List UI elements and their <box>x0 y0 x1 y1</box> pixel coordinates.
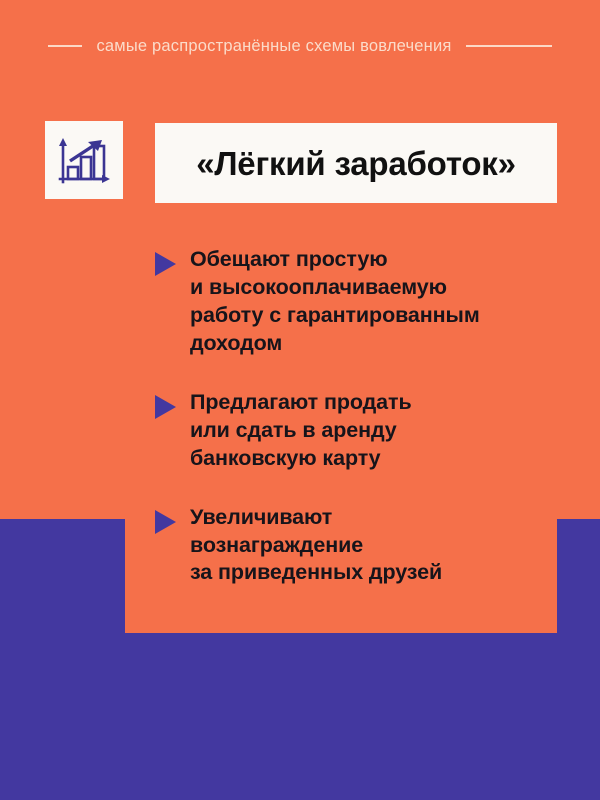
list-item: Предлагают продать или сдать в аренду ба… <box>155 389 560 473</box>
poster-canvas: самые распространённые схемы вовлечения <box>0 0 600 800</box>
triangle-bullet-icon <box>155 252 176 276</box>
header-title: самые распространённые схемы вовлечения <box>96 37 451 56</box>
triangle-bullet-icon <box>155 395 176 419</box>
list-item-label: Предлагают продать или сдать в аренду ба… <box>190 389 412 473</box>
list-item-label: Увеличивают вознаграждение за приведенны… <box>190 504 442 588</box>
bullet-list: Обещают простую и высокооплачиваемую раб… <box>155 246 560 587</box>
list-item-label: Обещают простую и высокооплачиваемую раб… <box>190 246 480 358</box>
header-rule-left-icon <box>48 45 82 47</box>
list-item: Увеличивают вознаграждение за приведенны… <box>155 504 560 588</box>
header-strip: самые распространённые схемы вовлечения <box>0 28 600 64</box>
icon-tile <box>45 121 123 199</box>
list-item: Обещают простую и высокооплачиваемую раб… <box>155 246 560 358</box>
growth-bar-chart-icon <box>55 131 113 189</box>
triangle-bullet-icon <box>155 510 176 534</box>
header-rule-right-icon <box>466 45 552 47</box>
page-title: «Лёгкий заработок» <box>196 147 516 180</box>
title-plate: «Лёгкий заработок» <box>155 123 557 203</box>
